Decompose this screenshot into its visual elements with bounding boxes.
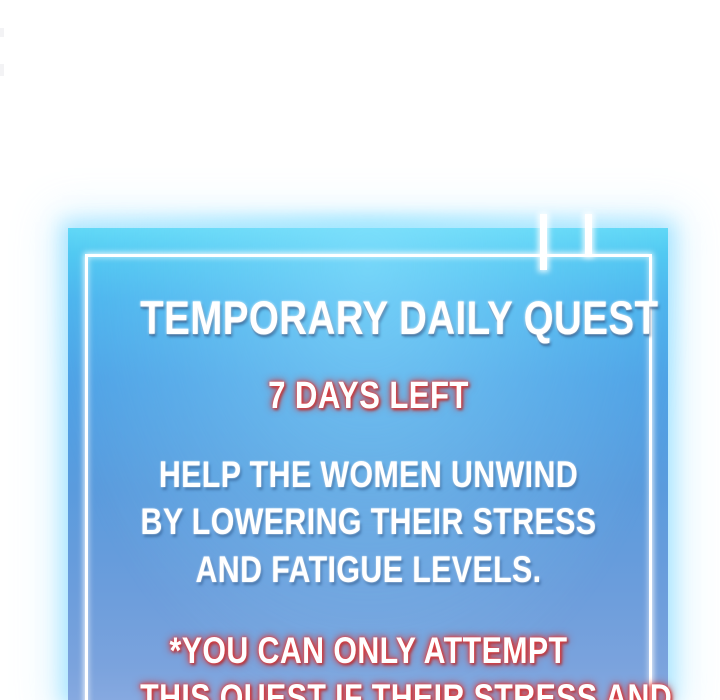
quest-description: HELP THE WOMEN UNWIND BY LOWERING THEIR … <box>90 451 647 593</box>
quest-note-line: THIS QUEST IF THEIR STRESS AND <box>140 674 597 700</box>
quest-description-line: HELP THE WOMEN UNWIND <box>140 451 597 498</box>
quest-title: TEMPORARY DAILY QUEST <box>140 294 597 341</box>
quest-note: *YOU CAN ONLY ATTEMPT THIS QUEST IF THEI… <box>90 627 647 700</box>
quest-description-line: AND FATIGUE LEVELS. <box>140 546 597 593</box>
edge-artifact-upper <box>0 28 4 37</box>
edge-artifact-lower <box>0 64 4 76</box>
quest-description-line: BY LOWERING THEIR STRESS <box>140 498 597 545</box>
quest-timer: 7 DAYS LEFT <box>140 377 597 415</box>
decorative-tick-right-icon <box>585 214 592 256</box>
quest-panel: TEMPORARY DAILY QUEST 7 DAYS LEFT HELP T… <box>68 228 668 700</box>
quest-note-line: *YOU CAN ONLY ATTEMPT <box>140 627 597 674</box>
quest-content: TEMPORARY DAILY QUEST 7 DAYS LEFT HELP T… <box>90 254 647 700</box>
page-canvas: TEMPORARY DAILY QUEST 7 DAYS LEFT HELP T… <box>0 0 720 700</box>
